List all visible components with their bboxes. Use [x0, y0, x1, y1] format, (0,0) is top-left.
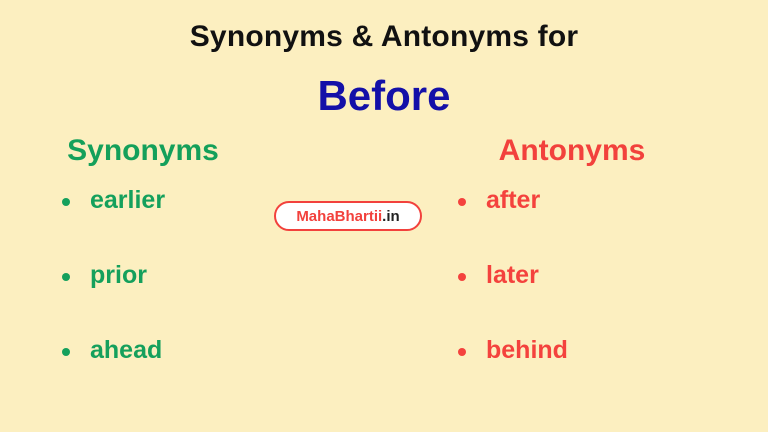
antonyms-list: after later behind	[448, 188, 708, 363]
list-item: prior	[52, 263, 312, 288]
bullet-icon	[62, 273, 70, 281]
antonym-text: later	[486, 261, 539, 289]
list-item: behind	[448, 338, 708, 363]
watermark-badge: MahaBhartii.in	[274, 201, 422, 231]
synonyms-heading: Synonyms	[28, 134, 258, 168]
page-title: Synonyms & Antonyms for	[0, 20, 768, 54]
list-item: after	[448, 188, 708, 213]
bullet-icon	[458, 348, 466, 356]
bullet-icon	[62, 198, 70, 206]
antonym-text: behind	[486, 336, 568, 364]
synonym-text: earlier	[90, 186, 165, 214]
list-item: later	[448, 263, 708, 288]
synonyms-list: earlier prior ahead	[52, 188, 312, 363]
infographic-page: Synonyms & Antonyms for Before Synonyms …	[0, 0, 768, 432]
synonym-text: ahead	[90, 336, 162, 364]
badge-tld: .in	[382, 208, 400, 225]
bullet-icon	[458, 273, 466, 281]
badge-brand: MahaBhartii	[296, 208, 382, 225]
bullet-icon	[458, 198, 466, 206]
headword: Before	[0, 72, 768, 120]
list-item: ahead	[52, 338, 312, 363]
synonym-text: prior	[90, 261, 147, 289]
bullet-icon	[62, 348, 70, 356]
list-item: earlier	[52, 188, 312, 213]
antonym-text: after	[486, 186, 540, 214]
antonyms-heading: Antonyms	[452, 134, 692, 168]
